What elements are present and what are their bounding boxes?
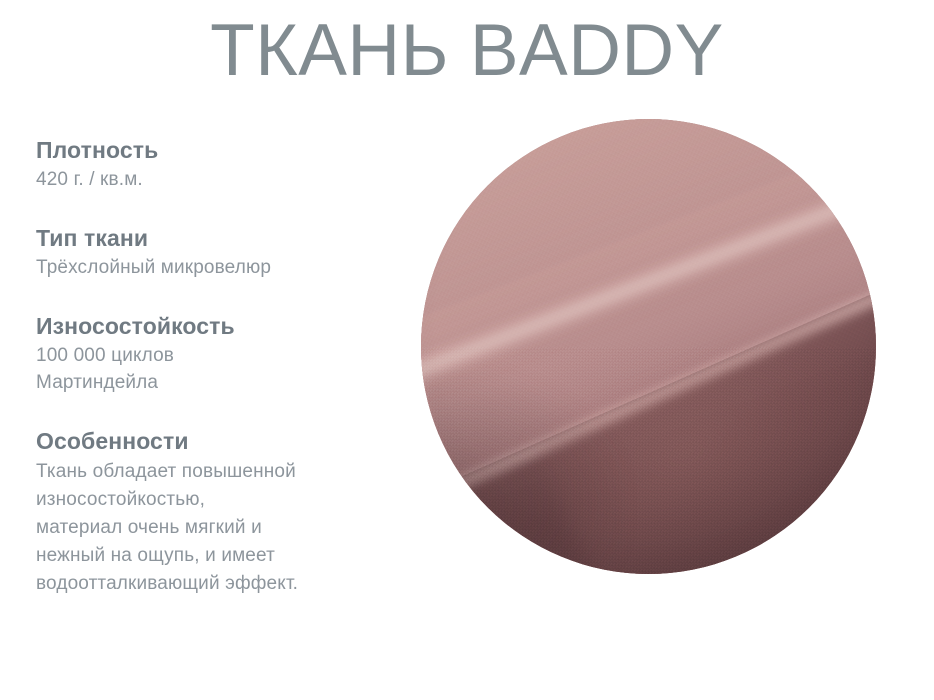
spec-list: Плотность 420 г. / кв.м. Тип ткани Трёхс… [36,136,404,598]
fabric-swatch-circle [421,119,876,574]
spec-value-line: 420 г. / кв.м. [36,167,404,194]
spec-value-density: 420 г. / кв.м. [36,167,404,194]
fabric-swatch-image [421,119,876,574]
spec-heading-density: Плотность [36,136,404,164]
spec-item-density: Плотность 420 г. / кв.м. [36,136,404,194]
features-line: Ткань обладает повышенной [36,458,386,486]
page-title: ТКАНЬ BADDY [0,14,934,87]
spec-heading-features: Особенности [36,427,404,455]
spec-value-line: Трёхслойный микровелюр [36,255,404,282]
spec-heading-abrasion-resistance: Износостойкость [36,312,404,340]
spec-item-features: Особенности Ткань обладает повышенной из… [36,427,404,598]
spec-value-line: 100 000 циклов [36,343,404,370]
spec-heading-fabric-type: Тип ткани [36,224,404,252]
fabric-vignette [421,119,876,574]
spec-value-abrasion-resistance: 100 000 циклов Мартиндейла [36,343,404,397]
spec-item-abrasion-resistance: Износостойкость 100 000 циклов Мартиндей… [36,312,404,397]
features-line: водоотталкивающий эффект. [36,570,386,598]
spec-value-fabric-type: Трёхслойный микровелюр [36,255,404,282]
fabric-spec-slide: ТКАНЬ BADDY Плотность 420 г. / кв.м. Тип… [0,0,934,700]
features-line: нежный на ощупь, и имеет [36,542,386,570]
features-line: износостойкостью, [36,486,386,514]
spec-item-fabric-type: Тип ткани Трёхслойный микровелюр [36,224,404,282]
features-description: Ткань обладает повышенной износостойкост… [36,458,386,598]
features-line: материал очень мягкий и [36,514,386,542]
spec-value-line: Мартиндейла [36,370,404,397]
